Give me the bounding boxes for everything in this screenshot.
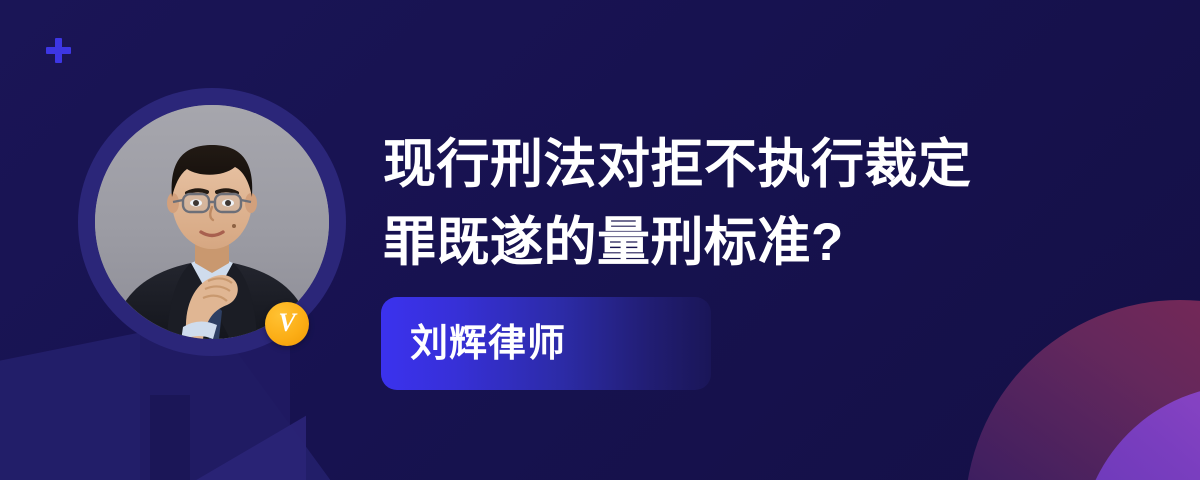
lawyer-name-label: 刘辉律师 bbox=[410, 325, 566, 363]
lawyer-name-badge[interactable]: 刘辉律师 bbox=[381, 297, 711, 390]
verified-badge-glyph: V bbox=[278, 310, 295, 336]
avatar: V bbox=[78, 88, 346, 356]
verified-badge: V bbox=[265, 302, 309, 346]
banner-root: V 现行刑法对拒不执行裁定 罪既遂的量刑标准? 刘辉律师 bbox=[0, 0, 1200, 480]
decorative-polygon-mid-dark bbox=[150, 395, 190, 480]
plus-icon bbox=[46, 38, 71, 63]
page-title: 现行刑法对拒不执行裁定 罪既遂的量刑标准? bbox=[383, 126, 1043, 282]
